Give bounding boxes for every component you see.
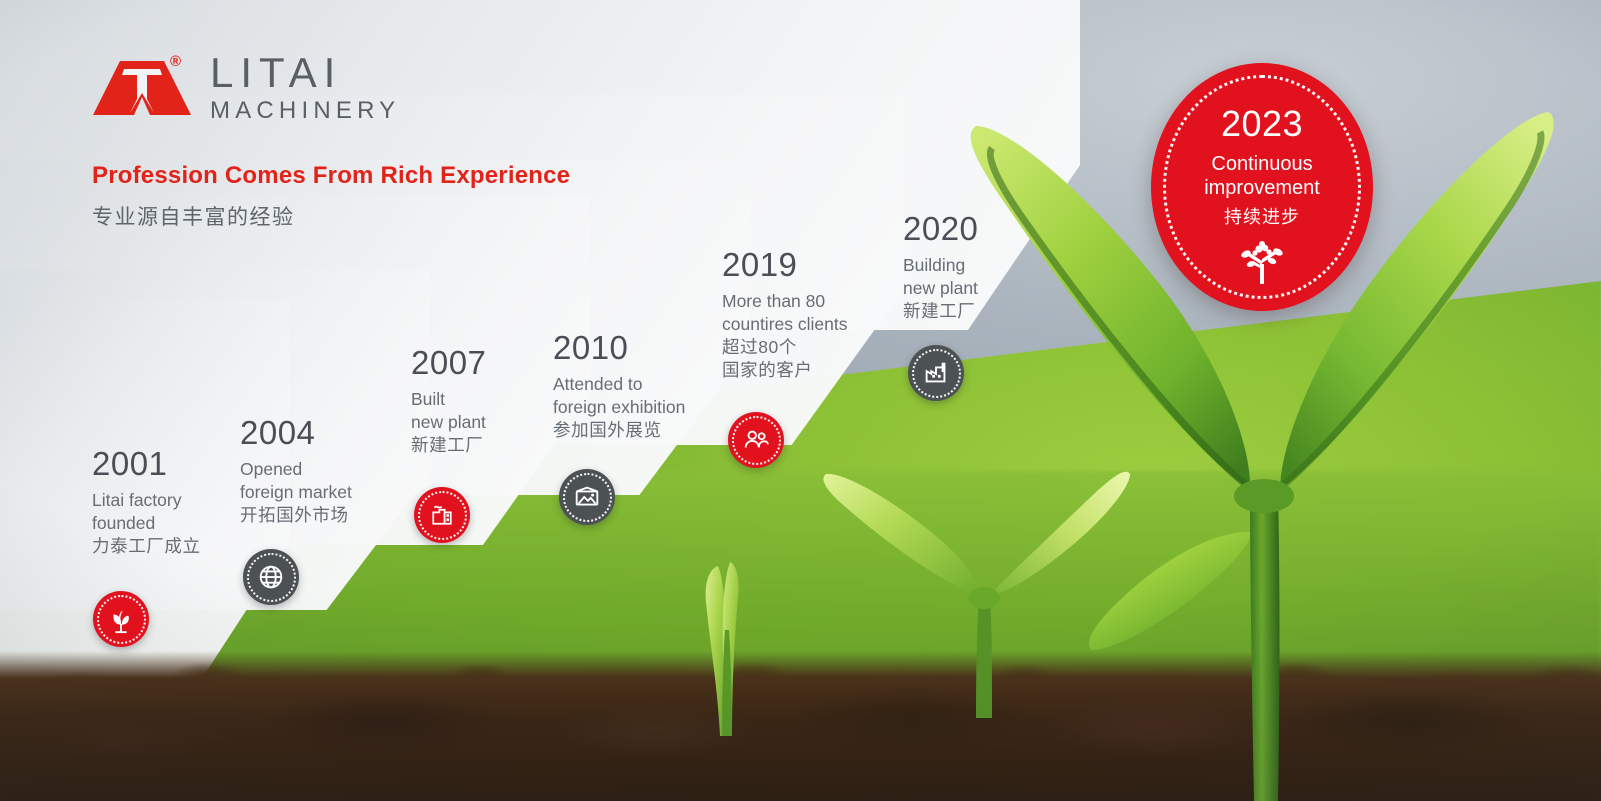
milestone-line-en-2: new plant — [903, 277, 978, 300]
globe-icon — [256, 562, 286, 592]
highlight-line-cn: 持续进步 — [1224, 203, 1300, 229]
milestone-line-en-2: foreign market — [240, 481, 352, 504]
milestone-2007: 2007 Built new plant 新建工厂 — [411, 346, 486, 457]
highlight-line-2: improvement — [1204, 177, 1320, 201]
milestone-line-cn-2: 国家的客户 — [722, 359, 847, 382]
small-sprout-plant — [676, 540, 786, 740]
milestone-line-cn: 新建工厂 — [903, 300, 978, 323]
milestone-line-en-2: new plant — [411, 411, 486, 434]
litai-trapezoid-logo-icon: ® — [92, 59, 192, 117]
badge-2010-photo[interactable] — [559, 469, 615, 525]
tagline-english: Profession Comes From Rich Experience — [92, 162, 570, 190]
tagline-block: Profession Comes From Rich Experience 专业… — [92, 162, 570, 231]
factory-icon — [428, 501, 456, 529]
badge-2004-globe[interactable] — [243, 549, 299, 605]
badge-2001-sprout[interactable] — [93, 591, 149, 647]
milestone-line-cn: 开拓国外市场 — [240, 504, 352, 527]
company-logo[interactable]: ® LITAI MACHINERY — [92, 52, 400, 123]
milestone-line-en-2: countires clients — [722, 313, 847, 336]
photo-icon — [572, 482, 602, 512]
milestone-2004: 2004 Opened foreign market 开拓国外市场 — [240, 416, 352, 527]
milestone-year: 2010 — [553, 331, 685, 366]
milestone-line-en-2: foreign exhibition — [553, 396, 685, 419]
milestone-line-cn: 参加国外展览 — [553, 419, 685, 442]
milestone-line-en-1: Built — [411, 388, 486, 411]
registered-trademark-icon: ® — [170, 53, 181, 70]
milestone-line-en-1: Opened — [240, 458, 352, 481]
highlight-2023-badge[interactable]: 2023 Continuous improvement 持续进步 — [1151, 63, 1373, 311]
tagline-chinese: 专业源自丰富的经验 — [92, 201, 570, 231]
sprout-icon — [106, 604, 136, 634]
milestone-2019: 2019 More than 80 countires clients 超过80… — [722, 248, 847, 382]
milestone-line-cn: 新建工厂 — [411, 434, 486, 457]
milestone-line-en-1: Attended to — [553, 373, 685, 396]
milestone-2001: 2001 Litai factory founded 力泰工厂成立 — [92, 447, 201, 558]
brand-name-primary: LITAI — [210, 52, 400, 94]
milestone-2010: 2010 Attended to foreign exhibition 参加国外… — [553, 331, 685, 442]
milestone-year: 2019 — [722, 248, 847, 283]
milestone-line-en-1: Building — [903, 254, 978, 277]
milestone-year: 2001 — [92, 447, 201, 482]
milestone-year: 2007 — [411, 346, 486, 381]
badge-2019-people[interactable] — [728, 412, 784, 468]
milestone-year: 2004 — [240, 416, 352, 451]
people-icon — [741, 425, 771, 455]
badge-2007-factory[interactable] — [414, 487, 470, 543]
milestone-line-en-1: More than 80 — [722, 290, 847, 313]
milestone-line-cn: 力泰工厂成立 — [92, 535, 201, 558]
growing-tree-icon — [1238, 239, 1286, 290]
factory-icon — [921, 358, 951, 388]
milestone-line-cn: 超过80个 — [722, 336, 847, 359]
brand-name-secondary: MACHINERY — [210, 99, 400, 123]
infographic-canvas: ® LITAI MACHINERY Profession Comes From … — [0, 0, 1601, 801]
milestone-year: 2020 — [903, 212, 978, 247]
milestone-2020: 2020 Building new plant 新建工厂 — [903, 212, 978, 323]
highlight-line-1: Continuous — [1211, 153, 1312, 177]
highlight-year: 2023 — [1221, 103, 1303, 145]
milestone-line-en-1: Litai factory — [92, 489, 201, 512]
badge-2020-factory[interactable] — [908, 345, 964, 401]
milestone-line-en-2: founded — [92, 512, 201, 535]
